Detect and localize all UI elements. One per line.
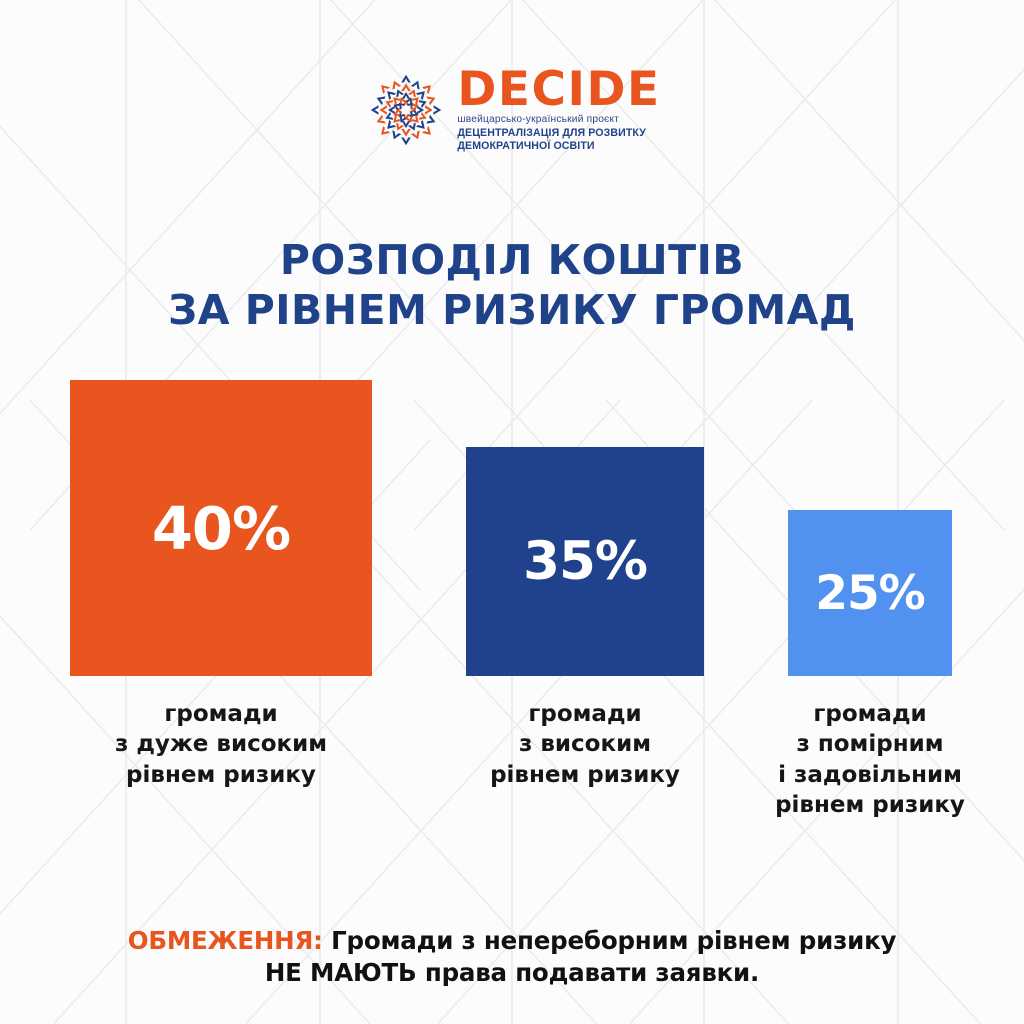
page-title: РОЗПОДІЛ КОШТІВ ЗА РІВНЕМ РИЗИКУ ГРОМАД (0, 235, 1024, 335)
infographic-poster: DECIDE швейцарсько-українcький проєкт ДЕ… (0, 0, 1024, 1024)
restriction-note-line-1-rest: Громади з непереборним рівнем ризику (323, 926, 897, 955)
bar-value-label-3: 25% (815, 570, 925, 617)
bar-1[interactable]: 40% (70, 380, 372, 676)
logo-text-block: DECIDE швейцарсько-українcький проєкт ДЕ… (457, 66, 660, 155)
bar-caption-1-line-1: громади (115, 699, 327, 729)
bar-caption-2-line-1: громади (490, 699, 680, 729)
bar-caption-1: громадиз дуже високимрівнем ризику (115, 699, 327, 790)
bar-caption-3-line-1: громади (775, 699, 965, 729)
bar-caption-3-line-2: з помірним (775, 729, 965, 759)
bar-value-label-1: 40% (152, 499, 290, 558)
bar-3[interactable]: 25% (788, 510, 952, 676)
logo-subtitle-line1: швейцарсько-українcький проєкт (457, 114, 619, 127)
logo-subtitle-line3: ДЕМОКРАТИЧНОЇ ОСВІТИ (457, 140, 594, 154)
decide-logo: DECIDE швейцарсько-українcький проєкт ДЕ… (0, 60, 1024, 160)
bar-caption-3-line-3: і задовільним (775, 760, 965, 790)
decide-snowflake-logo-icon (363, 67, 449, 153)
bar-group-1: 40%громадиз дуже високимрівнем ризику (70, 380, 372, 676)
restriction-note: ОБМЕЖЕННЯ: Громади з непереборним рівнем… (0, 925, 1024, 989)
bar-2[interactable]: 35% (466, 447, 704, 676)
restriction-label: ОБМЕЖЕННЯ: (128, 926, 323, 955)
bar-caption-1-line-2: з дуже високим (115, 729, 327, 759)
logo-subtitle-line2: ДЕЦЕНТРАЛІЗАЦІЯ ДЛЯ РОЗВИТКУ (457, 127, 646, 141)
bar-group-3: 25%громадиз помірнимі задовільнимрівнем … (788, 510, 952, 676)
restriction-note-line-1: ОБМЕЖЕННЯ: Громади з непереборним рівнем… (0, 925, 1024, 957)
bar-value-label-2: 35% (523, 535, 647, 588)
bar-group-2: 35%громадиз високимрівнем ризику (466, 447, 704, 676)
page-title-line-1: РОЗПОДІЛ КОШТІВ (0, 235, 1024, 285)
bar-caption-2-line-3: рівнем ризику (490, 760, 680, 790)
bar-caption-3: громадиз помірнимі задовільнимрівнем риз… (775, 699, 965, 820)
logo-wordmark: DECIDE (457, 68, 660, 111)
page-title-line-2: ЗА РІВНЕМ РИЗИКУ ГРОМАД (0, 285, 1024, 335)
bar-caption-3-line-4: рівнем ризику (775, 790, 965, 820)
bar-caption-2-line-2: з високим (490, 729, 680, 759)
bar-caption-2: громадиз високимрівнем ризику (490, 699, 680, 790)
restriction-note-line-2: НЕ МАЮТЬ права подавати заявки. (0, 957, 1024, 989)
bar-caption-1-line-3: рівнем ризику (115, 760, 327, 790)
